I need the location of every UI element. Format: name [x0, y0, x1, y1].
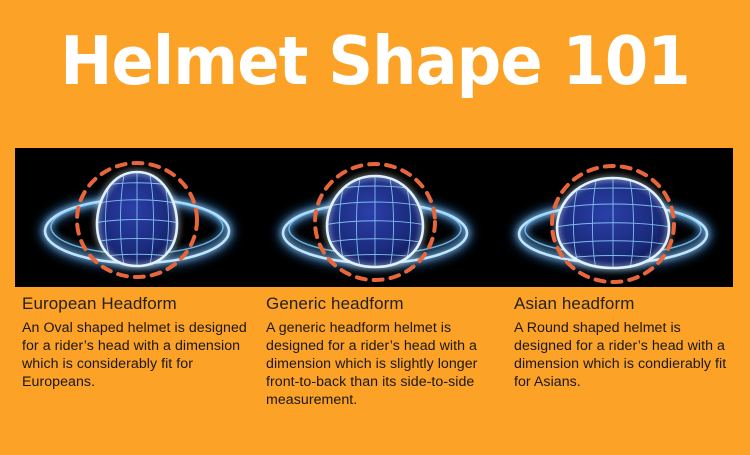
- column-heading: Generic headform: [266, 293, 500, 315]
- helmet-shape-infographic: Helmet Shape 101: [0, 0, 750, 455]
- european-headform-diagram: [17, 148, 257, 287]
- column-asian-headform: Asian headform A Round shaped helmet is …: [514, 293, 742, 391]
- diagram-panel: [15, 148, 733, 287]
- generic-headform-diagram: [255, 148, 495, 287]
- column-body: A Round shaped helmet is designed for a …: [514, 319, 742, 391]
- column-body: An Oval shaped helmet is designed for a …: [22, 319, 254, 391]
- column-generic-headform: Generic headform A generic headform helm…: [266, 293, 500, 409]
- column-body: A generic headform helmet is designed fo…: [266, 319, 500, 409]
- column-heading: European Headform: [22, 293, 254, 315]
- page-title: Helmet Shape 101: [26, 22, 724, 100]
- column-european-headform: European Headform An Oval shaped helmet …: [22, 293, 254, 391]
- asian-headform-diagram: [493, 148, 733, 287]
- column-heading: Asian headform: [514, 293, 742, 315]
